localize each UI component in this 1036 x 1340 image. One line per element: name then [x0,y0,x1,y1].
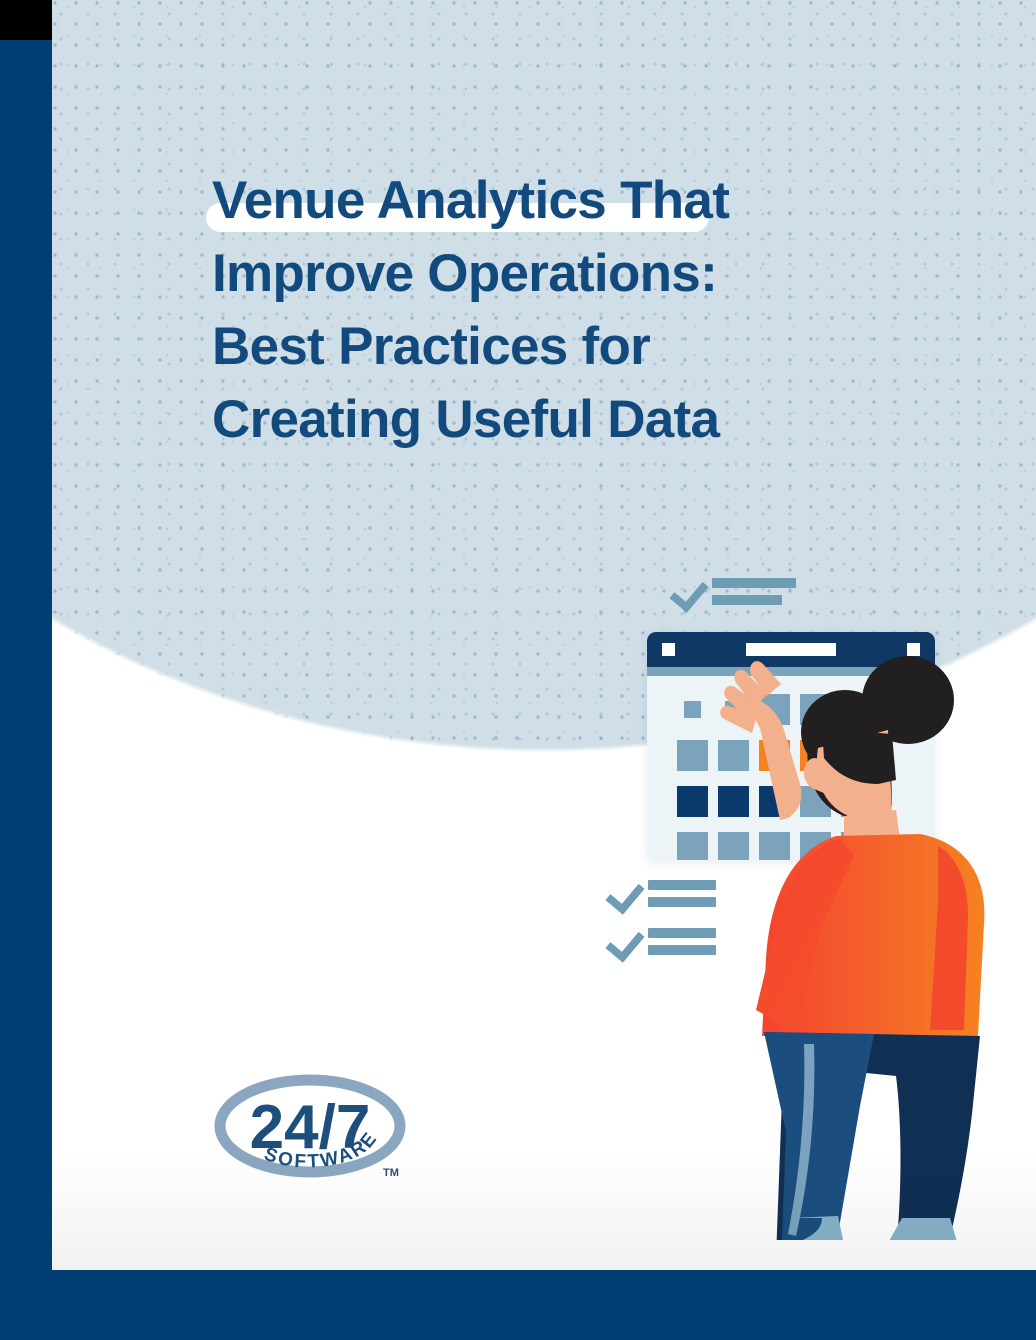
shoes [736,1216,976,1240]
calendar-cell [677,832,708,860]
text-bar [712,595,782,605]
title-text-3: Best Practices for [212,317,650,376]
text-bar [648,928,716,938]
title-line-2: Improve Operations: [212,237,912,310]
title-line-3: Best Practices for [212,310,912,383]
calendar-binding-left [662,643,675,656]
calendar-cell [677,786,708,817]
checklist-bars [648,880,716,914]
title-line-4: Creating Useful Data [212,383,912,456]
calendar-cell [684,701,701,718]
torso [756,834,984,1036]
left-navy-rail [0,40,52,1270]
title-text-1: Venue Analytics That [212,171,729,230]
page-title: Venue Analytics That Improve Operations:… [212,164,912,456]
brand-logo: 24/7 SOFTWARE TM [210,1070,410,1190]
text-bar [648,880,716,890]
title-text-4: Creating Useful Data [212,390,719,449]
title-line-1: Venue Analytics That [212,164,912,237]
calendar-cell [677,740,708,771]
text-bar [648,897,716,907]
checklist-bars [648,928,716,962]
title-text-2: Improve Operations: [212,244,717,303]
ebook-cover-page: Venue Analytics That Improve Operations:… [0,0,1036,1340]
top-left-black-marker [0,0,52,40]
bottom-navy-rail [0,1270,1036,1340]
person-illustration [712,640,1032,1240]
text-bar [648,945,716,955]
page-sheet: Venue Analytics That Improve Operations:… [52,0,1036,1270]
text-bar [712,578,796,588]
logo-trademark-icon: TM [383,1167,399,1179]
arm-and-hand [720,661,801,820]
pants [764,1032,980,1240]
checklist-bars [712,578,796,612]
